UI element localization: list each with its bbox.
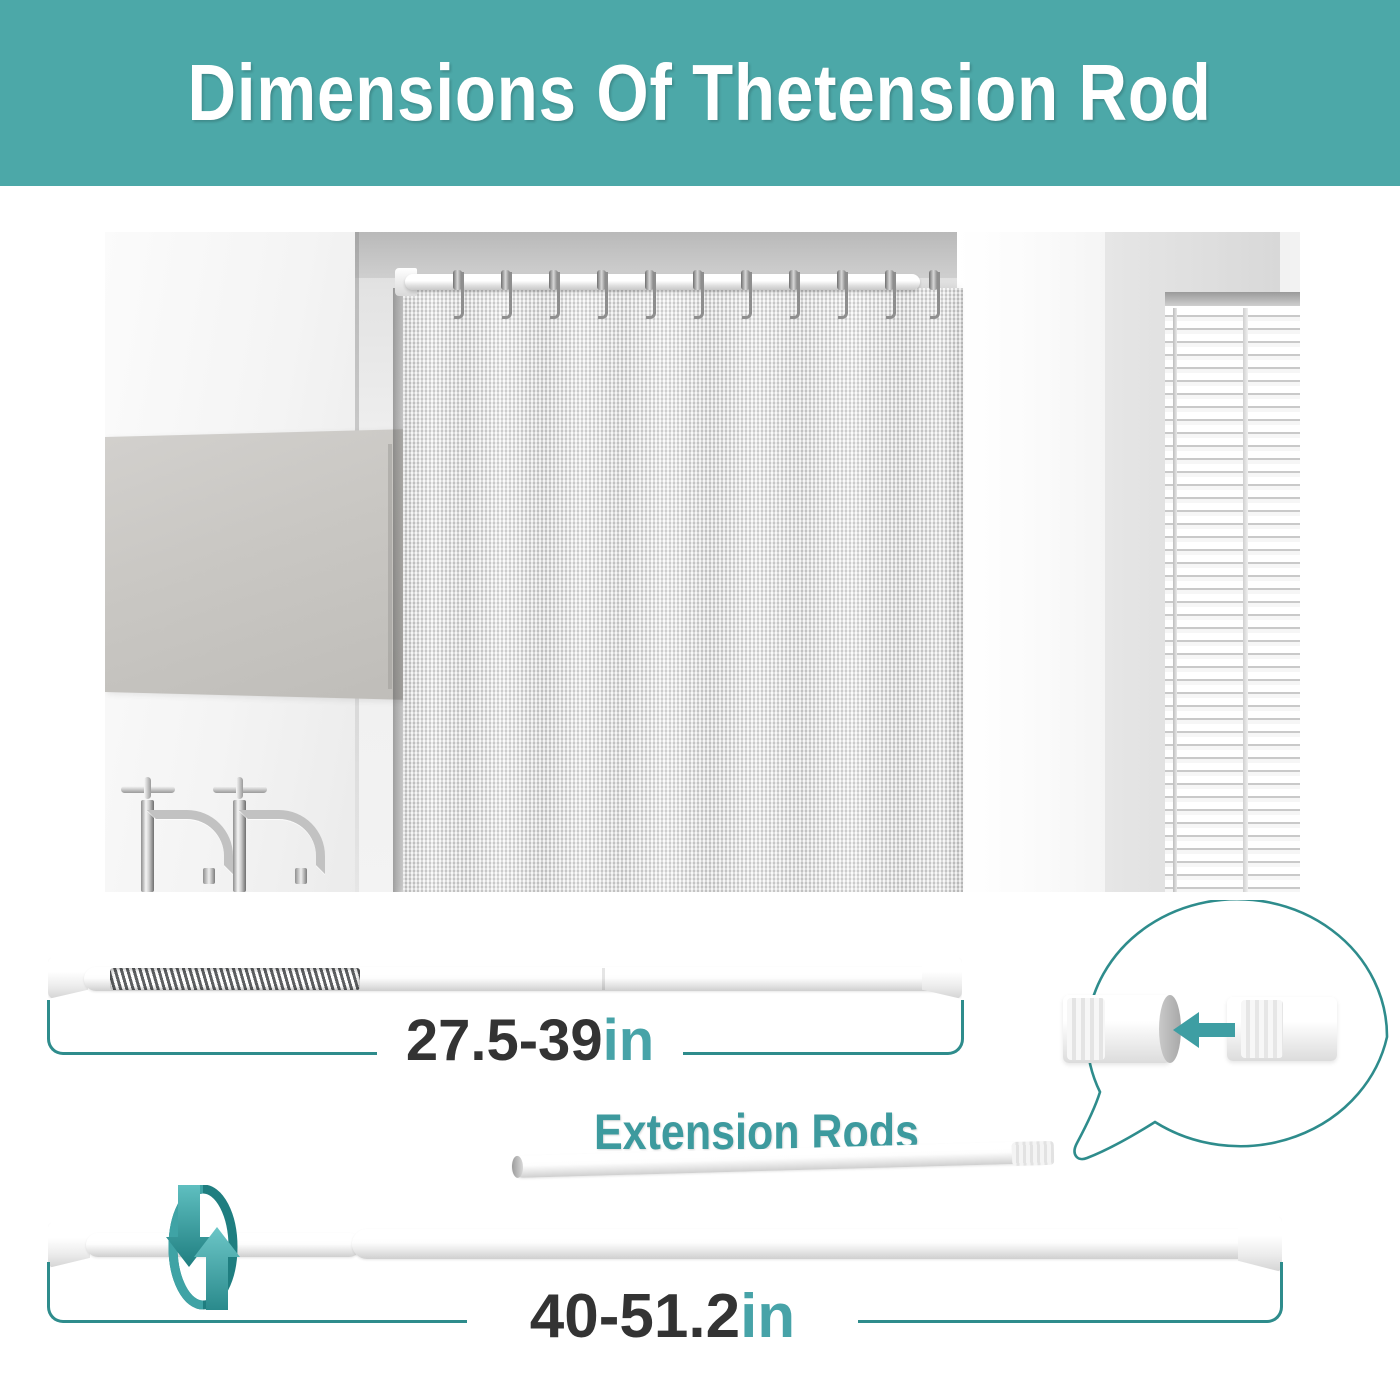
photo-curtain-hook (502, 272, 512, 319)
short-rod-bracket-left (47, 1000, 380, 1055)
photo-curtain-hook (550, 272, 560, 319)
bathroom-photo (105, 232, 1300, 892)
bubble-right-tube-threads (1241, 1000, 1283, 1058)
short-rod-spring (110, 968, 360, 990)
short-rod-dimension-label: 27.5-39in (377, 1012, 683, 1070)
photo-curtain-hook (838, 272, 848, 319)
photo-curtain-hook (886, 272, 896, 319)
photo-ceiling (355, 232, 960, 278)
short-rod-left-cap (48, 957, 88, 999)
page-title: Dimensions Of Thetension Rod (188, 53, 1212, 133)
photo-blind-cord-right (1243, 308, 1248, 892)
short-rod-right-cap (922, 957, 962, 999)
photo-window-header-rail (1165, 292, 1300, 306)
long-rod-bracket-left (47, 1262, 470, 1323)
photo-curtain-hook (930, 272, 940, 319)
long-rod-bracket-right (858, 1262, 1283, 1323)
page-header: Dimensions Of Thetension Rod (0, 0, 1400, 186)
photo-faucet-right (215, 780, 267, 892)
short-rod-bracket-right (683, 1000, 964, 1055)
photo-curtain-hook (694, 272, 704, 319)
short-rod-unit: in (603, 1008, 655, 1073)
photo-blind-cord-left (1173, 308, 1177, 892)
photo-shower-curtain (403, 288, 963, 892)
photo-curtain-hook (646, 272, 656, 319)
connection-detail-bubble (1055, 900, 1400, 1200)
photo-curtain-hook (598, 272, 608, 319)
photo-mirror-edge (388, 444, 392, 689)
photo-curtain-hook (454, 272, 464, 319)
long-rod-unit: in (740, 1282, 795, 1351)
photo-wall-mirror (105, 429, 411, 700)
photo-faucet-left (123, 780, 175, 892)
arrow-left-icon (1173, 1010, 1235, 1050)
extension-rod-threads (1012, 1141, 1055, 1166)
photo-curtain-hook (790, 272, 800, 319)
photo-window (1165, 292, 1300, 892)
bubble-left-tube-threads (1067, 998, 1105, 1060)
long-rod-dimension-label: 40-51.2in (467, 1286, 858, 1348)
extension-rod-open-end (512, 1156, 524, 1178)
short-rod-seam (602, 968, 605, 990)
photo-window-blinds (1165, 308, 1300, 892)
photo-curtain-hook (742, 272, 752, 319)
long-rod-outer-shaft (352, 1229, 1257, 1259)
